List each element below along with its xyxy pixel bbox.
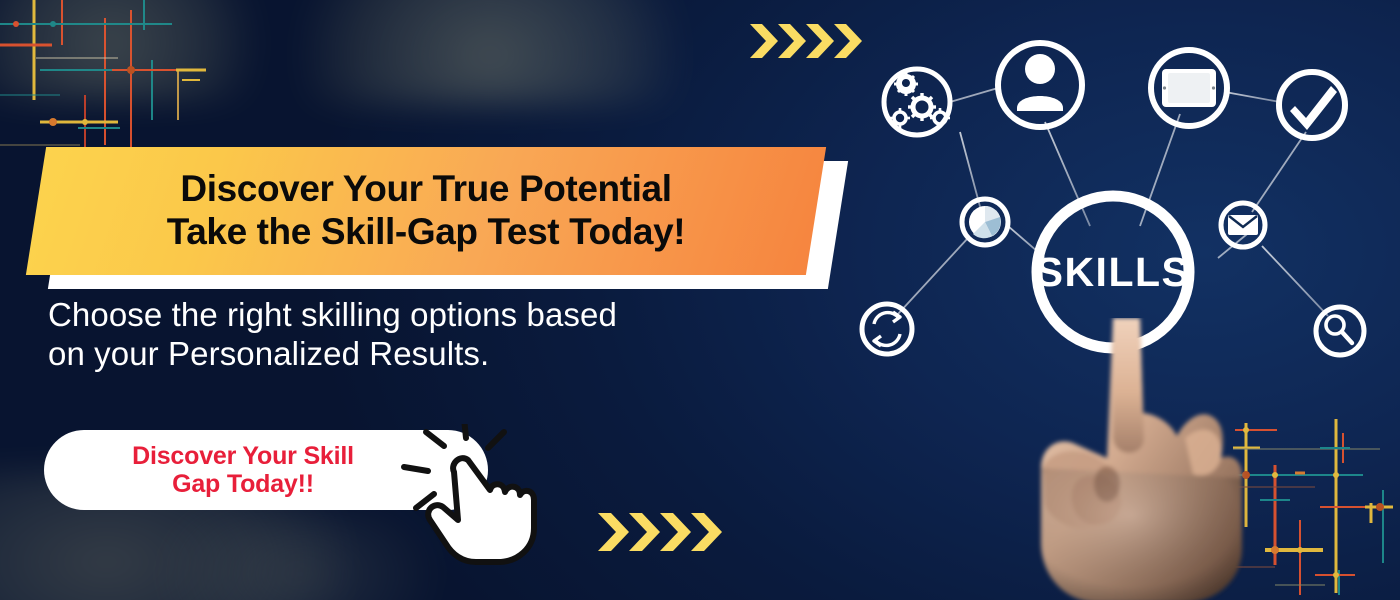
envelope-icon [1228, 215, 1258, 235]
tablet-icon [1162, 69, 1216, 107]
node-checkmark [1279, 72, 1345, 138]
subtitle: Choose the right skilling options based … [48, 296, 828, 374]
person-icon [1017, 54, 1063, 111]
node-refresh [862, 304, 912, 354]
subtitle-line-2: on your Personalized Results. [48, 335, 828, 374]
headline-text: Discover Your True Potential Take the Sk… [36, 147, 816, 275]
node-person [998, 43, 1082, 127]
chevron-arrows-bottom [596, 508, 728, 556]
cta-button-label: Discover Your Skill Gap Today!! [132, 442, 400, 498]
node-pie-chart [962, 199, 1008, 245]
cloud-texture-top-left [0, 0, 260, 100]
refresh-icon [874, 312, 900, 346]
headline-line-2: Take the Skill-Gap Test Today! [167, 211, 685, 254]
pointing-hand-photo [995, 318, 1295, 600]
hand-pointer-click-icon [392, 424, 544, 572]
node-tablet [1151, 50, 1227, 126]
promo-banner: SKILLS [0, 0, 1400, 600]
subtitle-line-1: Choose the right skilling options based [48, 296, 828, 335]
magnifier-icon [1326, 316, 1352, 343]
node-magnifier [1316, 307, 1364, 355]
cloud-texture-top-middle [300, 0, 680, 105]
cta-label-line-1: Discover Your Skill [132, 442, 354, 470]
skills-center-label: SKILLS [1036, 249, 1191, 295]
headline-line-1: Discover Your True Potential [180, 168, 671, 211]
headline-banner: Discover Your True Potential Take the Sk… [36, 147, 836, 282]
node-gears [884, 69, 950, 135]
pointer-hand-icon [428, 458, 534, 562]
checkmark-icon [1290, 86, 1337, 130]
pie-chart-icon [969, 206, 1001, 238]
node-envelope [1221, 203, 1265, 247]
cta-label-line-2: Gap Today!! [132, 470, 354, 498]
